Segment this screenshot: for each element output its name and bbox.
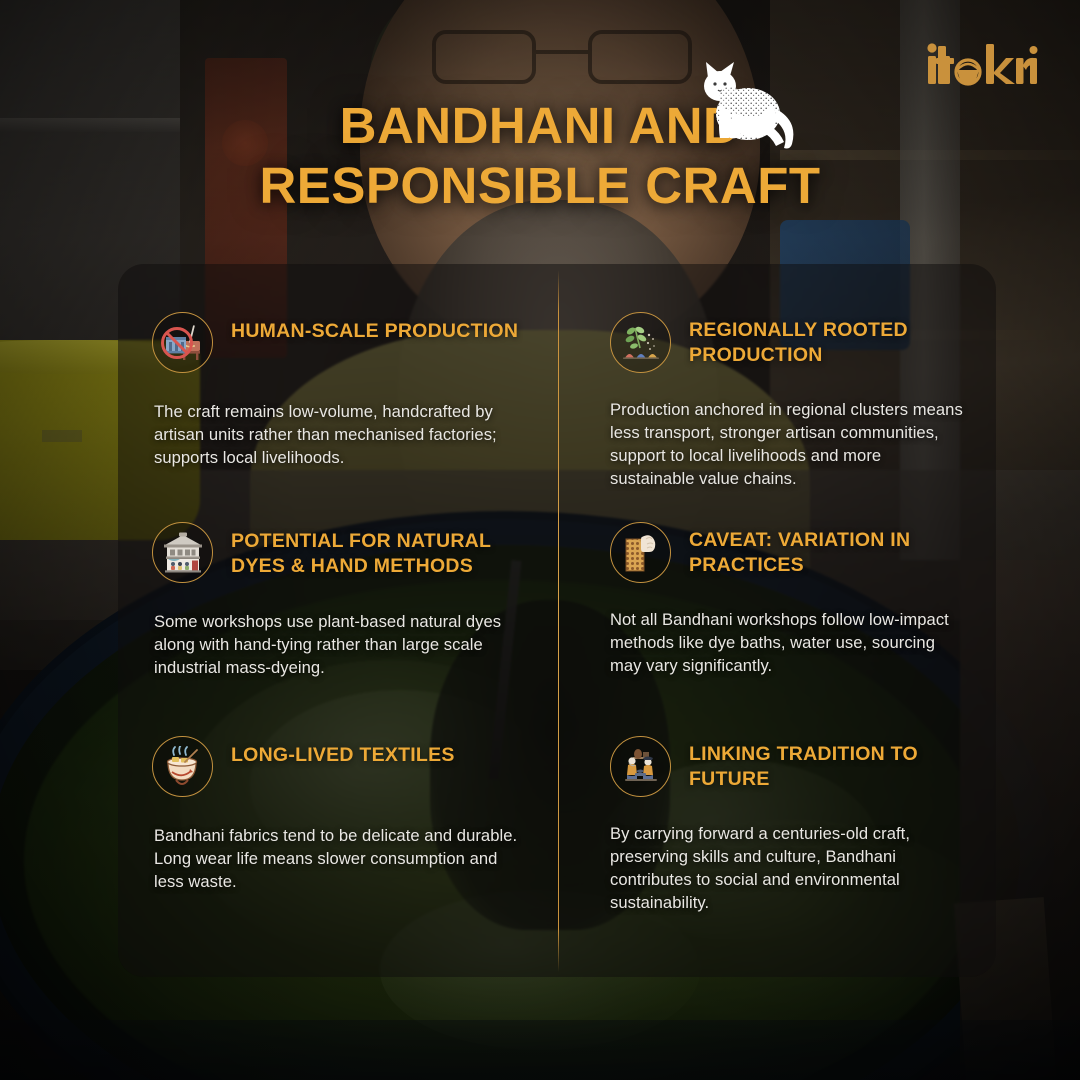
headline: BANDHANI AND RESPONSIBLE CRAFT (0, 96, 1080, 216)
steaming-dye-pot-icon (152, 736, 213, 797)
card-body: Some workshops use plant-based natural d… (152, 611, 524, 680)
card-body: By carrying forward a centuries-old craf… (610, 823, 970, 915)
card-human-scale-production: HUMAN-SCALE PRODUCTION The craft remains… (118, 264, 558, 474)
card-title: LONG-LIVED TEXTILES (231, 734, 455, 768)
infographic-canvas: BANDHANI AND RESPONSIBLE CRAFT (0, 0, 1080, 1080)
card-body: The craft remains low-volume, handcrafte… (152, 401, 524, 470)
card-caveat-variation-in-practices: CAVEAT: VARIATION IN PRACTICES Not all B… (558, 474, 996, 684)
card-title: REGIONALLY ROOTED PRODUCTION (689, 310, 970, 367)
card-header: HUMAN-SCALE PRODUCTION (152, 310, 524, 373)
card-title: POTENTIAL FOR NATURAL DYES & HAND METHOD… (231, 520, 524, 578)
card-header: CAVEAT: VARIATION IN PRACTICES (610, 520, 970, 583)
hand-holding-patterned-cloth-icon (610, 522, 671, 583)
headline-line-1: BANDHANI AND (0, 96, 1080, 156)
content-panel: HUMAN-SCALE PRODUCTION The craft remains… (118, 264, 996, 977)
card-header: POTENTIAL FOR NATURAL DYES & HAND METHOD… (152, 520, 524, 583)
card-header: LINKING TRADITION TO FUTURE (610, 734, 970, 797)
card-title: HUMAN-SCALE PRODUCTION (231, 310, 518, 344)
headline-line-2: RESPONSIBLE CRAFT (0, 156, 1080, 216)
seedling-spice-piles-icon (610, 312, 671, 373)
card-regionally-rooted-production: REGIONALLY ROOTED PRODUCTION Production … (558, 264, 996, 474)
basket-icon (926, 40, 1038, 88)
cards-grid: HUMAN-SCALE PRODUCTION The craft remains… (118, 264, 996, 977)
card-header: REGIONALLY ROOTED PRODUCTION (610, 310, 970, 373)
itokri-logo[interactable] (926, 40, 1038, 88)
card-body: Bandhani fabrics tend to be delicate and… (152, 825, 524, 894)
no-factory-machine-icon (152, 312, 213, 373)
two-seated-artisans-icon (610, 736, 671, 797)
card-natural-dyes-hand-methods: POTENTIAL FOR NATURAL DYES & HAND METHOD… (118, 474, 558, 684)
card-body: Not all Bandhani workshops follow low-im… (610, 609, 970, 678)
card-title: CAVEAT: VARIATION IN PRACTICES (689, 520, 970, 577)
card-long-lived-textiles: LONG-LIVED TEXTILES Bandhani fabrics ten… (118, 684, 558, 977)
card-header: LONG-LIVED TEXTILES (152, 734, 524, 797)
card-linking-tradition-to-future: LINKING TRADITION TO FUTURE By carrying … (558, 684, 996, 977)
craft-workshop-shop-icon (152, 522, 213, 583)
card-title: LINKING TRADITION TO FUTURE (689, 734, 970, 791)
